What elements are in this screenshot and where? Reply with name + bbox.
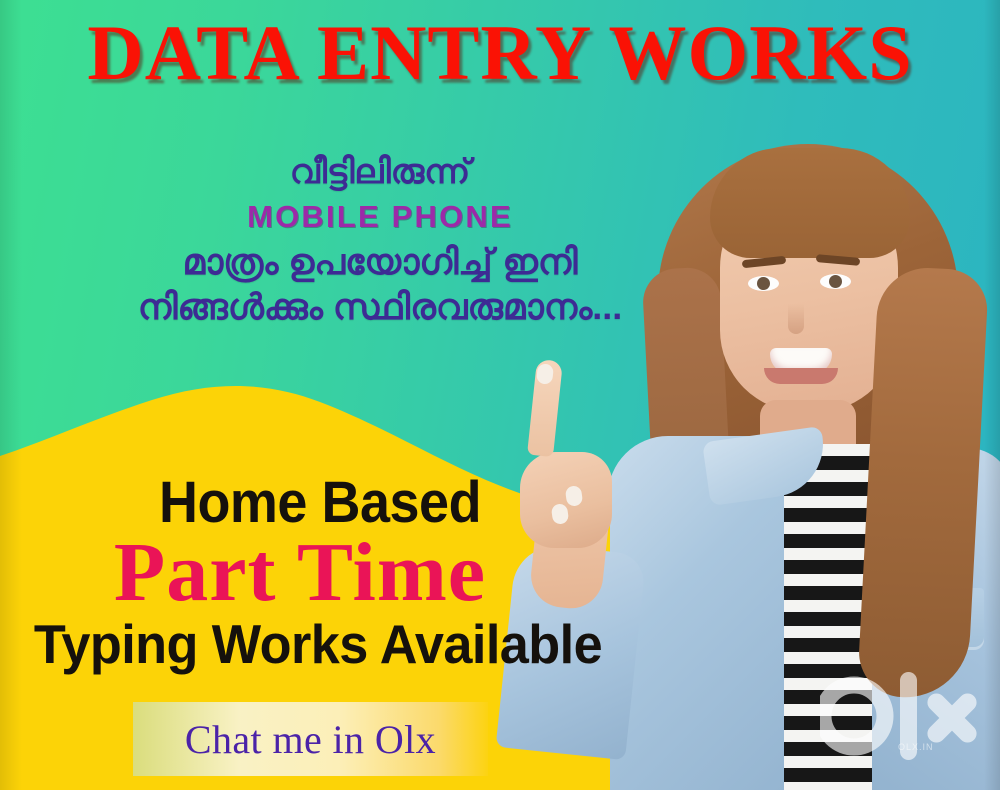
part-time-label: Part Time — [0, 527, 600, 619]
advertisement-poster: DATA ENTRY WORKS വീട്ടിലിരുന്ന് MOBILE P… — [0, 0, 1000, 790]
malayalam-copy-block: വീട്ടിലിരുന്ന് MOBILE PHONE മാത്രം ഉപയോഗ… — [0, 150, 760, 329]
home-based-label: Home Based — [22, 472, 617, 534]
mobile-phone-highlight: MOBILE PHONE — [0, 195, 760, 239]
lower-lip — [764, 368, 838, 384]
hair-strand-right — [857, 265, 989, 700]
nose — [788, 304, 804, 334]
chat-cta-banner[interactable]: Chat me in Olx — [133, 702, 488, 776]
eye-right — [820, 274, 851, 289]
typing-works-label: Typing Works Available — [16, 614, 620, 674]
chat-cta-label: Chat me in Olx — [185, 716, 436, 763]
malayalam-line-3: മാത്രം ഉപയോഗിച്ച് ഇനി — [0, 239, 760, 284]
malayalam-line-1: വീട്ടിലിരുന്ന് — [0, 150, 760, 195]
poster-headline: DATA ENTRY WORKS — [0, 12, 1000, 94]
malayalam-line-4: നിങ്ങൾക്കും സ്ഥിരവരുമാനം... — [0, 284, 760, 329]
olx-watermark-sub: OLX.IN — [898, 742, 934, 752]
